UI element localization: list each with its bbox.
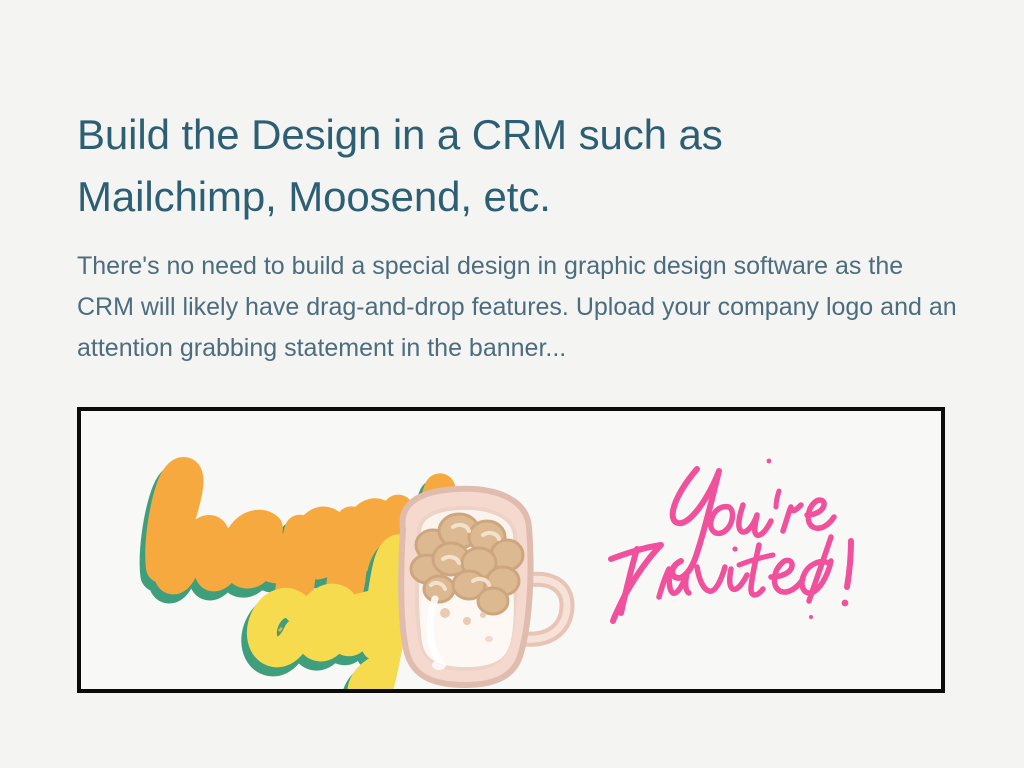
body-paragraph: There's no need to build a special desig… xyxy=(77,246,957,369)
page-title: Build the Design in a CRM such as Mailch… xyxy=(77,104,877,228)
slide-canvas: Build the Design in a CRM such as Mailch… xyxy=(0,0,1024,768)
happy-cafe-logo: happy cafe xyxy=(137,429,567,679)
youre-invited-svg xyxy=(601,449,901,649)
email-banner-preview: happy cafe xyxy=(77,407,945,693)
banner-inner: happy cafe xyxy=(81,411,941,689)
invite-line-two xyxy=(611,537,851,621)
coffee-mug-icon xyxy=(401,489,567,685)
happy-cafe-logo-svg xyxy=(137,429,567,679)
youre-invited-art: You're Invited! xyxy=(601,449,901,649)
